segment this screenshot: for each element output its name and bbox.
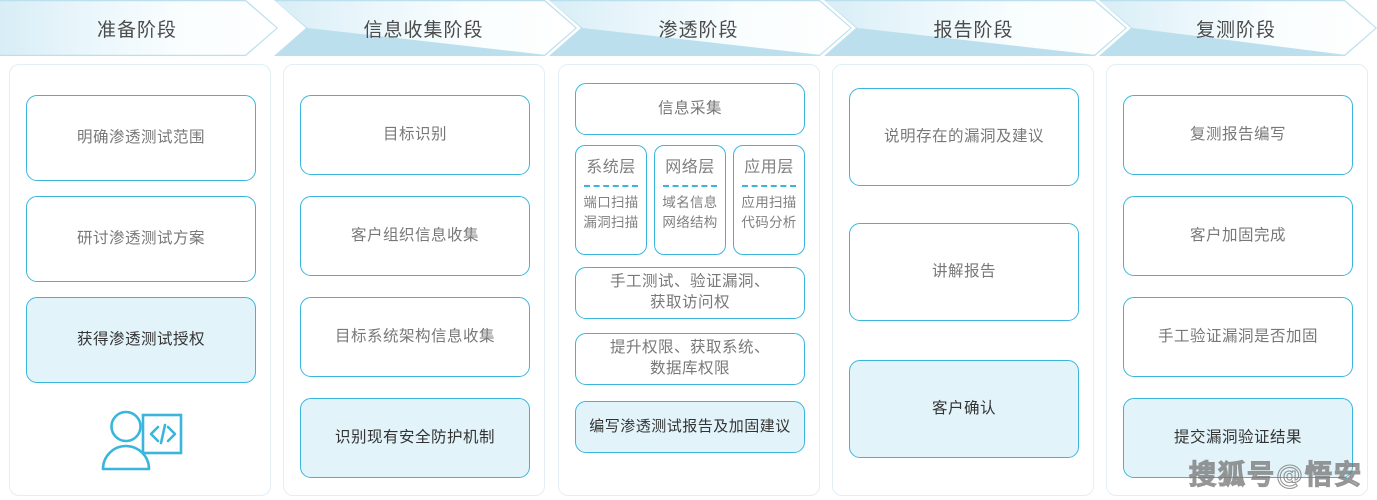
phase-label: 准备阶段 — [97, 15, 181, 42]
phase-arrow-information-gathering[interactable]: 信息收集阶段 — [274, 0, 577, 56]
layer-line: 端口扫描 — [583, 193, 638, 213]
layer-divider — [584, 185, 638, 187]
layer-divider — [663, 185, 717, 187]
process-box[interactable]: 客户加固完成 — [1123, 196, 1353, 276]
process-box-highlighted[interactable]: 编写渗透测试报告及加固建议 — [575, 401, 805, 453]
process-box[interactable]: 手工验证漏洞是否加固 — [1123, 297, 1353, 377]
process-box-highlighted[interactable]: 提交漏洞验证结果 — [1123, 398, 1353, 478]
phase-arrow-retest[interactable]: 复测阶段 — [1099, 0, 1377, 56]
column-items: 目标识别 客户组织信息收集 目标系统架构信息收集 识别现有安全防护机制 — [284, 65, 544, 495]
layer-box-system[interactable]: 系统层 端口扫描 漏洞扫描 — [575, 145, 647, 255]
phase-column-reporting: 说明存在的漏洞及建议 讲解报告 客户确认 — [832, 64, 1094, 496]
layer-title: 应用层 — [744, 153, 794, 177]
layer-divider — [742, 185, 796, 187]
phase-arrow-reporting[interactable]: 报告阶段 — [824, 0, 1127, 56]
process-box[interactable]: 明确渗透测试范围 — [26, 95, 256, 181]
layer-line: 漏洞扫描 — [583, 213, 638, 233]
column-items: 复测报告编写 客户加固完成 手工验证漏洞是否加固 提交漏洞验证结果 — [1107, 65, 1367, 495]
phase-column-penetration: 信息采集 系统层 端口扫描 漏洞扫描 网络层 域名信息 网络结构 应用层 应用扫… — [558, 64, 820, 496]
layer-box-network[interactable]: 网络层 域名信息 网络结构 — [654, 145, 726, 255]
phase-label: 复测阶段 — [1196, 15, 1280, 42]
process-box[interactable]: 手工测试、验证漏洞、 获取访问权 — [575, 267, 805, 319]
process-box[interactable]: 研讨渗透测试方案 — [26, 196, 256, 282]
phase-column-preparation: 明确渗透测试范围 研讨渗透测试方案 获得渗透测试授权 — [9, 64, 271, 496]
process-box[interactable]: 信息采集 — [575, 83, 805, 135]
process-box[interactable]: 讲解报告 — [849, 223, 1079, 321]
process-box-highlighted[interactable]: 获得渗透测试授权 — [26, 297, 256, 383]
phase-label: 渗透阶段 — [658, 15, 742, 42]
developer-user-code-icon — [98, 407, 186, 473]
process-flow-diagram: 准备阶段 信息收集阶段 渗透阶段 报告阶段 复测阶段 明确渗透测试范围 研讨渗透… — [0, 0, 1377, 500]
layer-line: 域名信息 — [662, 193, 717, 213]
process-box[interactable]: 复测报告编写 — [1123, 95, 1353, 175]
process-box[interactable]: 目标系统架构信息收集 — [300, 297, 530, 377]
process-box[interactable]: 目标识别 — [300, 95, 530, 175]
phase-header-band: 准备阶段 信息收集阶段 渗透阶段 报告阶段 复测阶段 — [0, 0, 1377, 56]
column-items: 信息采集 系统层 端口扫描 漏洞扫描 网络层 域名信息 网络结构 应用层 应用扫… — [559, 65, 819, 495]
phase-label: 信息收集阶段 — [363, 15, 487, 42]
layer-box-application[interactable]: 应用层 应用扫描 代码分析 — [733, 145, 805, 255]
layer-title: 网络层 — [665, 153, 715, 177]
layer-title: 系统层 — [586, 153, 636, 177]
layer-line: 应用扫描 — [741, 193, 796, 213]
process-box[interactable]: 说明存在的漏洞及建议 — [849, 88, 1079, 186]
layer-line: 代码分析 — [741, 213, 796, 233]
process-box[interactable]: 提升权限、获取系统、 数据库权限 — [575, 333, 805, 385]
phase-column-information-gathering: 目标识别 客户组织信息收集 目标系统架构信息收集 识别现有安全防护机制 — [283, 64, 545, 496]
layer-line: 网络结构 — [662, 213, 717, 233]
phase-arrow-penetration[interactable]: 渗透阶段 — [549, 0, 852, 56]
column-items: 明确渗透测试范围 研讨渗透测试方案 获得渗透测试授权 — [10, 65, 270, 495]
phase-arrow-preparation[interactable]: 准备阶段 — [0, 0, 278, 56]
process-box-highlighted[interactable]: 客户确认 — [849, 360, 1079, 458]
phase-label: 报告阶段 — [933, 15, 1017, 42]
process-box[interactable]: 客户组织信息收集 — [300, 196, 530, 276]
phase-column-retest: 复测报告编写 客户加固完成 手工验证漏洞是否加固 提交漏洞验证结果 — [1106, 64, 1368, 496]
process-box-highlighted[interactable]: 识别现有安全防护机制 — [300, 398, 530, 478]
column-items: 说明存在的漏洞及建议 讲解报告 客户确认 — [833, 65, 1093, 495]
